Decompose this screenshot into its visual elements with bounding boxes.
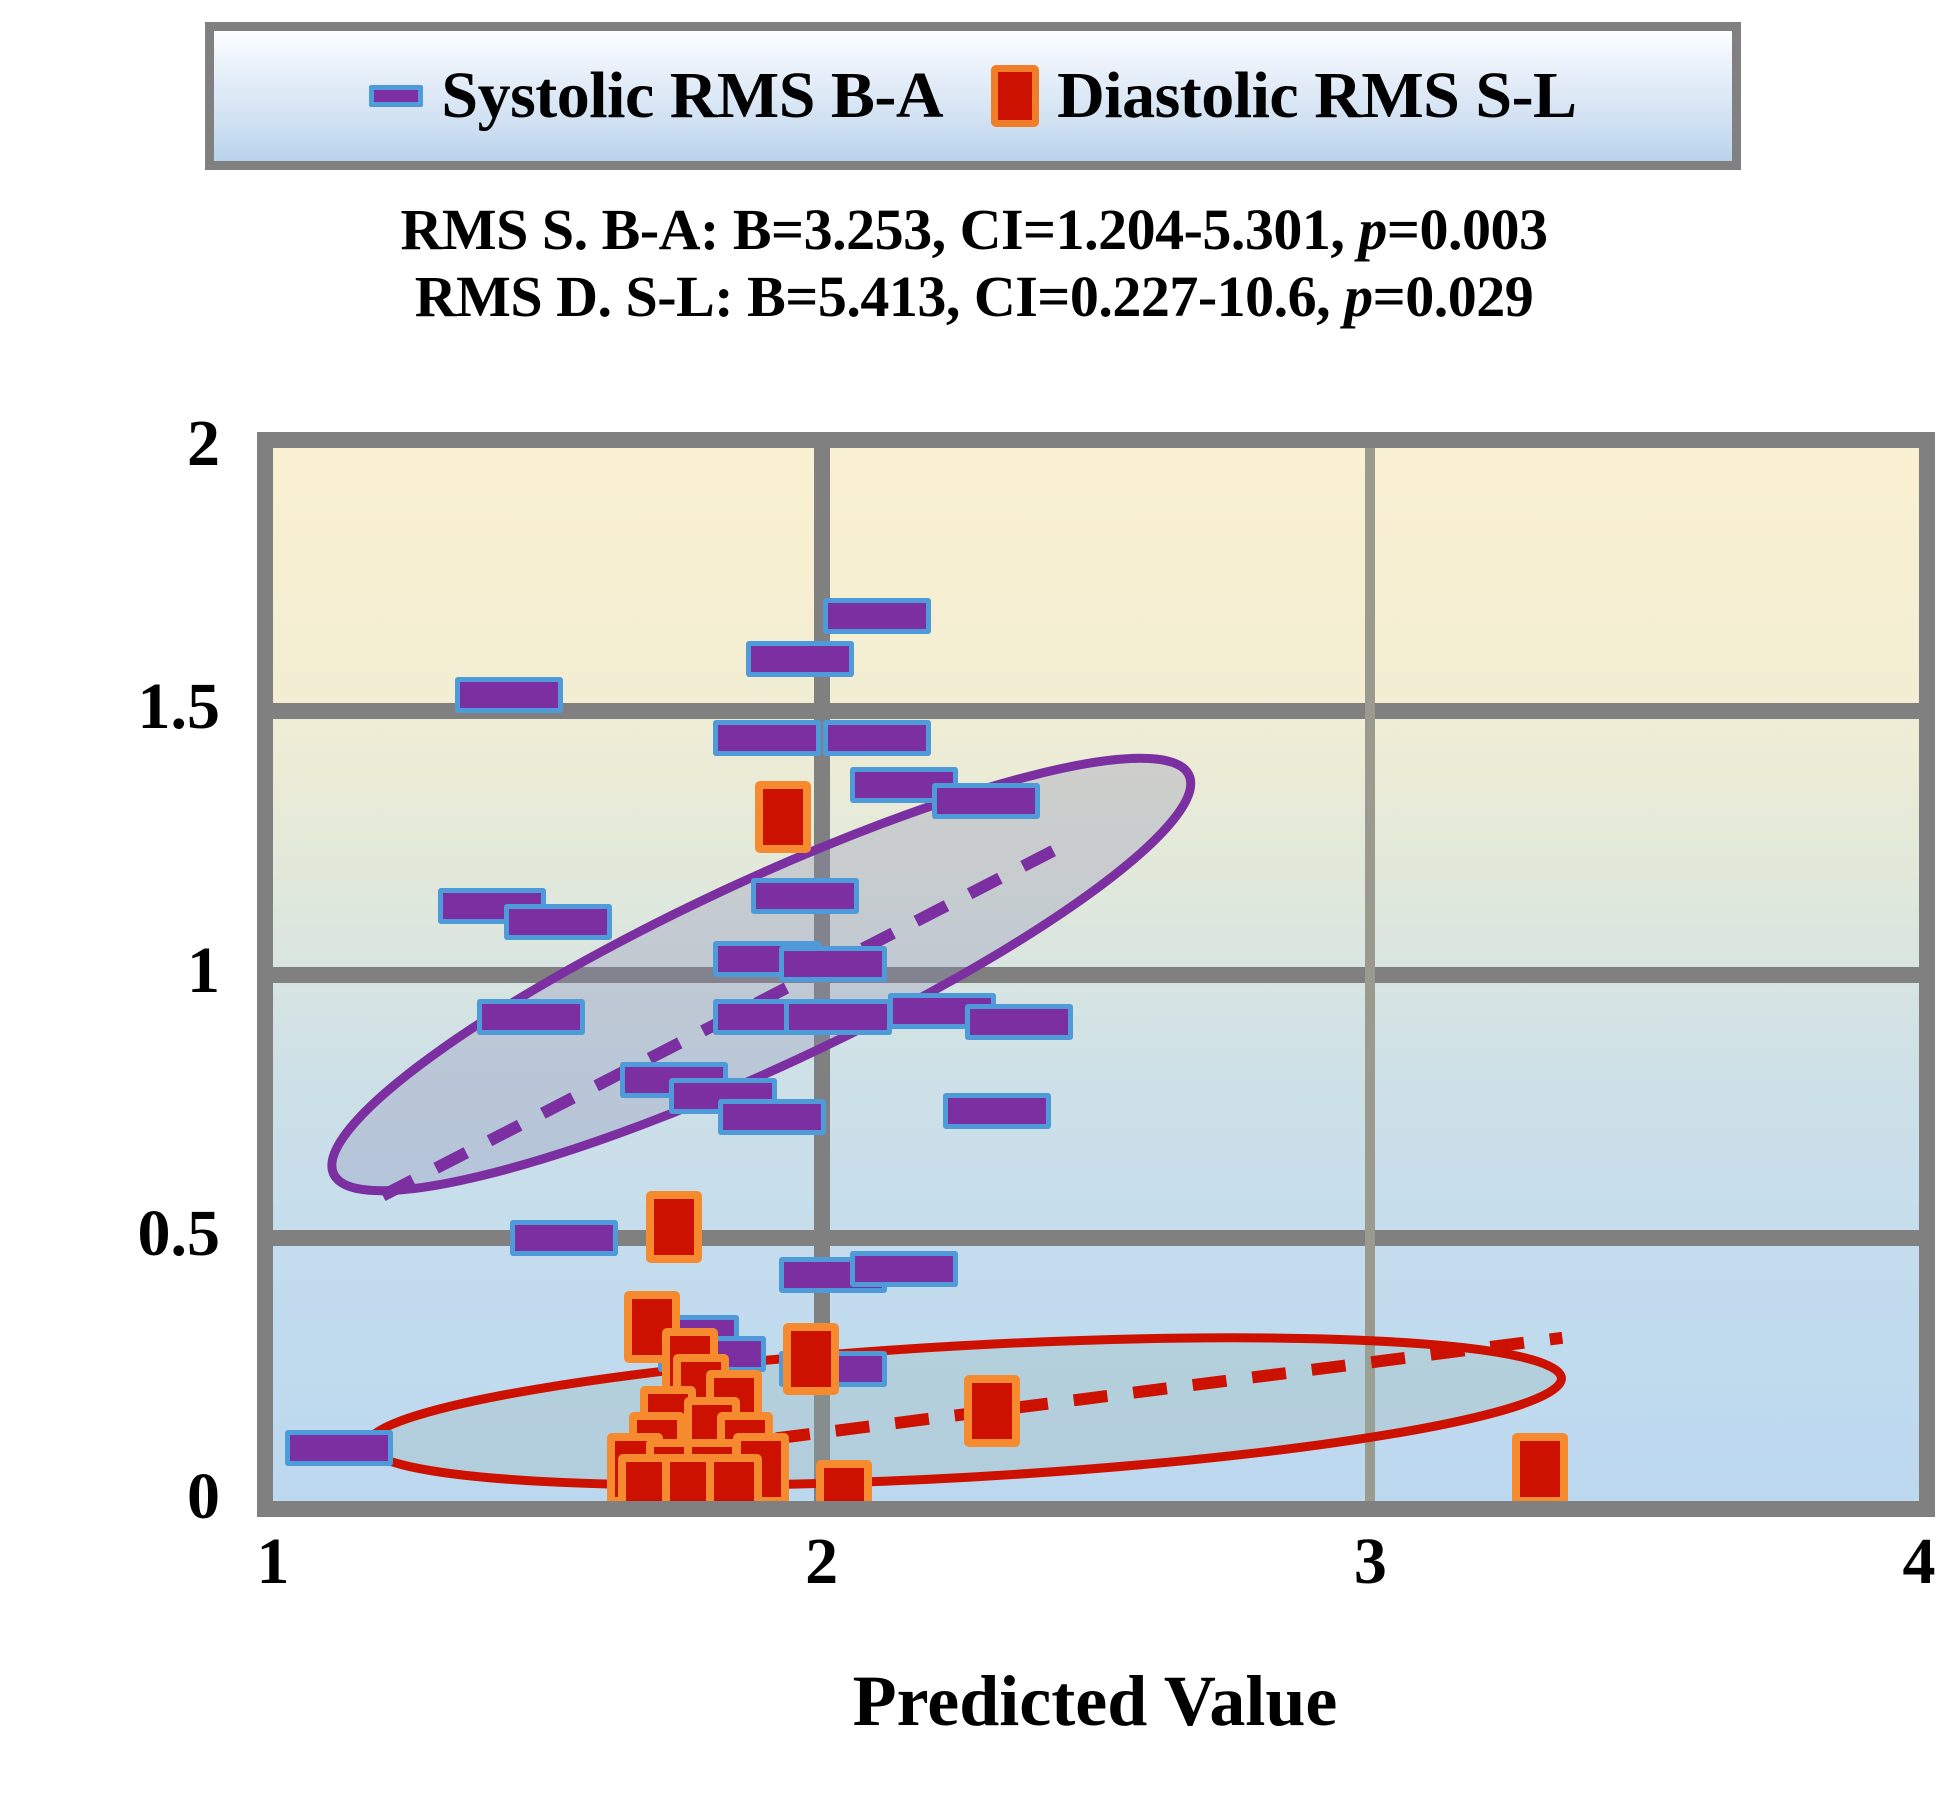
data-point-systolic xyxy=(779,946,887,982)
y-tick-label: 1.5 xyxy=(0,669,220,745)
y-tick-label: 0 xyxy=(0,1459,220,1535)
plot-inner xyxy=(273,448,1919,1501)
data-point-systolic xyxy=(784,999,892,1035)
y-tick-label: 1 xyxy=(0,933,220,1009)
y-tick-label: 2 xyxy=(0,406,220,482)
data-point-systolic xyxy=(823,720,931,756)
chart-title-line-1: RMS S. B-A: B=3.253, CI=1.204-5.301, p=0… xyxy=(0,196,1948,263)
data-point-diastolic xyxy=(755,781,811,853)
x-tick-label: 3 xyxy=(1290,1524,1450,1600)
data-point-diastolic xyxy=(646,1191,702,1263)
gridline-vertical xyxy=(1365,448,1375,1501)
data-point-systolic xyxy=(285,1430,393,1466)
data-point-systolic xyxy=(965,1004,1073,1040)
data-point-diastolic xyxy=(783,1323,839,1395)
gridline-horizontal xyxy=(273,967,1919,983)
title-line-2-italic: p xyxy=(1344,264,1373,329)
legend-item-label: Diastolic RMS S-L xyxy=(1057,58,1577,134)
data-point-systolic xyxy=(455,677,563,713)
x-tick-label: 1 xyxy=(193,1524,353,1600)
data-point-systolic xyxy=(510,1220,618,1256)
plot-area xyxy=(257,432,1935,1517)
data-point-systolic xyxy=(713,720,821,756)
data-point-diastolic xyxy=(816,1460,872,1501)
chart-legend: Systolic RMS B-A Diastolic RMS S-L xyxy=(205,22,1741,170)
title-line-1-italic: p xyxy=(1358,197,1387,262)
data-point-systolic xyxy=(718,1099,826,1135)
data-point-systolic xyxy=(751,878,859,914)
data-point-systolic xyxy=(823,598,931,634)
x-tick-label: 2 xyxy=(742,1524,902,1600)
chart-title-line-2: RMS D. S-L: B=5.413, CI=0.227-10.6, p=0.… xyxy=(0,263,1948,330)
data-point-diastolic xyxy=(1512,1433,1568,1501)
data-point-systolic xyxy=(746,641,854,677)
title-line-1-plain: RMS S. B-A: B=3.253, CI=1.204-5.301, xyxy=(401,197,1359,262)
y-tick-label: 0.5 xyxy=(0,1196,220,1272)
legend-item-diastolic[interactable]: Diastolic RMS S-L xyxy=(991,58,1577,134)
data-point-systolic xyxy=(477,999,585,1035)
title-line-2-tail: =0.029 xyxy=(1373,264,1534,329)
data-point-systolic xyxy=(943,1093,1051,1129)
square-swatch-icon xyxy=(991,65,1039,127)
data-point-systolic xyxy=(850,1251,958,1287)
chart-title-block: RMS S. B-A: B=3.253, CI=1.204-5.301, p=0… xyxy=(0,196,1948,331)
data-point-diastolic xyxy=(706,1454,762,1501)
data-point-systolic xyxy=(932,783,1040,819)
line-swatch-icon xyxy=(369,85,423,107)
legend-item-systolic[interactable]: Systolic RMS B-A xyxy=(369,58,943,134)
data-point-diastolic xyxy=(964,1375,1020,1447)
x-axis-title: Predicted Value xyxy=(255,1660,1935,1743)
x-tick-label: 4 xyxy=(1839,1524,1948,1600)
title-line-1-tail: =0.003 xyxy=(1387,197,1548,262)
title-line-2-plain: RMS D. S-L: B=5.413, CI=0.227-10.6, xyxy=(415,264,1344,329)
data-point-systolic xyxy=(504,904,612,940)
legend-item-label: Systolic RMS B-A xyxy=(441,58,943,134)
